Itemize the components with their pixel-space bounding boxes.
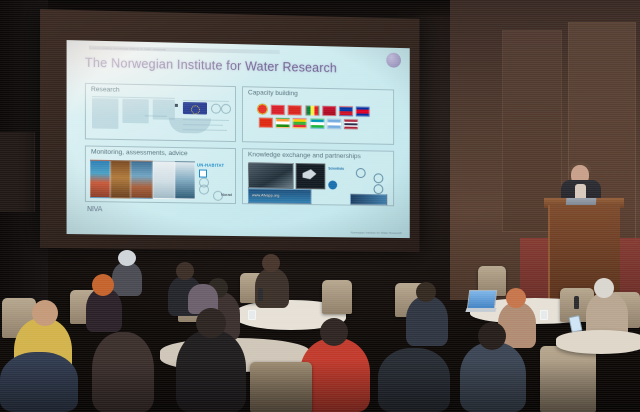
audience-head [118,250,136,266]
url-banner-text: www.Afvapp.org [252,193,279,197]
audience-head-red-hair [506,288,526,308]
drinking-glass [248,310,256,320]
chair [322,280,352,314]
chair-foreground [250,362,312,412]
quadrant-knowledge-exchange: Knowledge exchange and partnerships www.… [242,148,394,206]
partner-logo-icon [211,104,221,114]
myanmar-flag-2-icon [293,118,307,128]
report-cover [90,160,110,199]
report-cover [110,160,130,199]
quadrant-monitoring: Monitoring, assessments, advice UN-HABIT… [85,145,236,204]
conference-photo: Capacity building, knowledge sharing on … [0,0,640,412]
india-flag-icon [276,118,290,128]
un-habitat-label: UN-HABITAT [197,162,224,167]
niva-logo: NIVA [87,205,102,213]
report-cover [153,161,175,200]
gwp-logo-icon [328,180,337,189]
partner-logo-icon [374,184,384,194]
audience-head [176,262,194,280]
round-table [556,330,640,354]
audience-head [196,308,226,338]
audience-member [406,296,448,346]
asean-emblem-icon [257,104,268,115]
audience-head-grey-hair [594,278,614,298]
report-cover [175,161,195,199]
media-card [248,162,294,189]
norad-label: Norad [221,192,232,197]
slide-title: The Norwegian Institute for Water Resear… [85,56,337,76]
scientists-label: Scientists [328,167,344,171]
left-doorway [0,132,35,212]
laptop-screen [467,290,497,310]
audience-member-foreground [176,330,246,412]
audience-member [112,262,142,296]
argentina-flag-icon [327,119,341,129]
partner-logo-icon [221,104,231,114]
cambodia-flag-icon [356,106,370,116]
vietnam-flag-icon [288,105,302,115]
indonesia-flag-icon [271,104,285,114]
quadrant-label-knowledge: Knowledge exchange and partnerships [248,151,361,160]
quadrant-label-research: Research [91,86,120,94]
partner-banner [350,194,387,205]
audience-head [32,300,58,326]
projection-screen-frame: Capacity building, knowledge sharing on … [40,9,419,252]
water-bottle [258,288,263,301]
chair-foreground [540,346,596,412]
audience-member-foreground [460,342,526,412]
water-bottle [574,296,579,309]
slide-kicker: Capacity building, knowledge sharing on … [89,46,280,54]
laptop-base [465,308,496,312]
drinking-glass [540,310,548,320]
diagram-bowl-icon [169,118,211,134]
quadrant-label-monitoring: Monitoring, assessments, advice [91,149,188,158]
eu-flag-icon [183,102,207,115]
report-cover [131,160,153,199]
un-habitat-logo-icon [199,169,207,177]
quadrant-capacity-building: Capacity building [242,86,394,145]
slide-orb-logo-icon [386,53,401,68]
partner-logo-icon [199,185,209,195]
audience-head [320,318,348,346]
projected-slide: Capacity building, knowledge sharing on … [67,40,410,238]
audience-head [262,254,280,272]
un-water-logo-icon [356,168,366,178]
audience-head-red-hair [92,274,114,296]
myanmar-flag-icon [322,105,336,115]
uzbekistan-flag-icon [310,119,324,129]
laptop [466,290,496,312]
diagram-node-icon [175,104,178,107]
quadrant-research: Research [85,83,236,142]
flag-row-2 [259,118,358,130]
philippines-flag-icon [339,106,353,116]
slide-footer: Norwegian Institute for Water Research [351,230,402,235]
china-flag-icon [259,118,273,128]
iwa-logo-icon [374,173,384,183]
audience-member-foreground [92,332,154,412]
audience-member-foreground [0,352,78,412]
audience-head [416,282,436,302]
thailand-flag-icon [344,119,358,129]
audience-head [478,322,506,350]
senegal-flag-icon [305,105,319,115]
flag-row-1 [257,104,370,117]
audience-member-foreground [378,348,450,412]
quadrant-label-capacity: Capacity building [248,89,298,97]
